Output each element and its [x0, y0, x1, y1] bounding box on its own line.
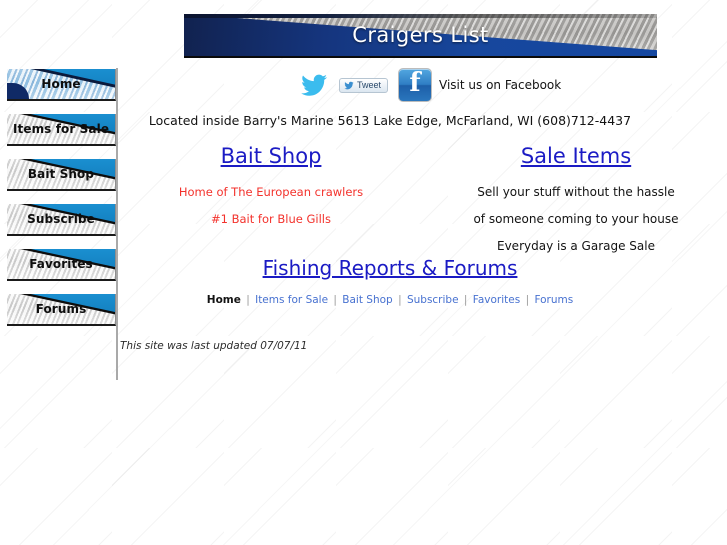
bait-shop-line-1: Home of The European crawlers: [165, 185, 377, 199]
footer-nav-item-bait-shop[interactable]: Bait Shop: [342, 294, 392, 306]
footer-nav-separator: |: [246, 294, 250, 306]
social-links-row: Tweet f Visit us on Facebook: [300, 67, 561, 103]
footer-nav-separator: |: [333, 294, 337, 306]
last-updated-text: This site was last updated 07/07/11: [120, 340, 307, 352]
sale-items-column: Sale Items Sell your stuff without the h…: [468, 144, 684, 253]
fishing-reports-heading-link[interactable]: Fishing Reports & Forums: [263, 256, 518, 280]
sale-items-line-2: of someone coming to your house: [468, 212, 684, 226]
footer-nav-item-home[interactable]: Home: [207, 294, 241, 306]
page-root: Craigers List Home Items for Sale Bait S…: [0, 0, 727, 545]
footer-nav-item-forums[interactable]: Forums: [534, 294, 573, 306]
footer-nav: Home | Items for Sale | Bait Shop | Subs…: [120, 294, 660, 306]
sale-items-line-3: Everyday is a Garage Sale: [468, 239, 684, 253]
footer-nav-item-items-for-sale[interactable]: Items for Sale: [255, 294, 328, 306]
sidebar-item-label: Forums: [7, 294, 115, 324]
sidebar-nav: Home Items for Sale Bait Shop Subscribe …: [7, 69, 118, 339]
fishing-reports-section: Fishing Reports & Forums: [120, 256, 660, 280]
tweet-button[interactable]: Tweet: [339, 78, 388, 93]
facebook-caption: Visit us on Facebook: [439, 78, 561, 92]
sidebar-item-forums[interactable]: Forums: [7, 294, 116, 326]
sidebar-item-subscribe[interactable]: Subscribe: [7, 204, 116, 236]
sidebar-item-label: Home: [7, 69, 115, 99]
bait-shop-column: Bait Shop Home of The European crawlers …: [165, 144, 377, 226]
sidebar-item-label: Subscribe: [7, 204, 115, 234]
facebook-f-icon[interactable]: f: [398, 68, 432, 102]
page-title: Craigers List: [184, 14, 657, 56]
bait-shop-heading-link[interactable]: Bait Shop: [221, 144, 322, 168]
sidebar-item-favorites[interactable]: Favorites: [7, 249, 116, 281]
footer-nav-item-subscribe[interactable]: Subscribe: [407, 294, 459, 306]
twitter-bird-icon[interactable]: [300, 73, 328, 97]
sidebar-item-bait-shop[interactable]: Bait Shop: [7, 159, 116, 191]
sale-items-heading-link[interactable]: Sale Items: [521, 144, 631, 168]
site-banner: Craigers List: [184, 14, 657, 58]
store-address: Located inside Barry's Marine 5613 Lake …: [120, 113, 660, 128]
content-divider: [116, 68, 118, 380]
footer-nav-separator: |: [526, 294, 530, 306]
footer-nav-separator: |: [398, 294, 402, 306]
sidebar-item-home[interactable]: Home: [7, 69, 116, 101]
sidebar-item-label: Favorites: [7, 249, 115, 279]
sale-items-line-1: Sell your stuff without the hassle: [468, 185, 684, 199]
sidebar-item-label: Bait Shop: [7, 159, 115, 189]
bait-shop-line-2: #1 Bait for Blue Gills: [165, 212, 377, 226]
sidebar-item-label: Items for Sale: [7, 114, 115, 144]
facebook-letter: f: [399, 67, 431, 99]
footer-nav-item-favorites[interactable]: Favorites: [473, 294, 520, 306]
footer-nav-separator: |: [464, 294, 468, 306]
tweet-button-label: Tweet: [357, 80, 381, 90]
sidebar-item-items-for-sale[interactable]: Items for Sale: [7, 114, 116, 146]
